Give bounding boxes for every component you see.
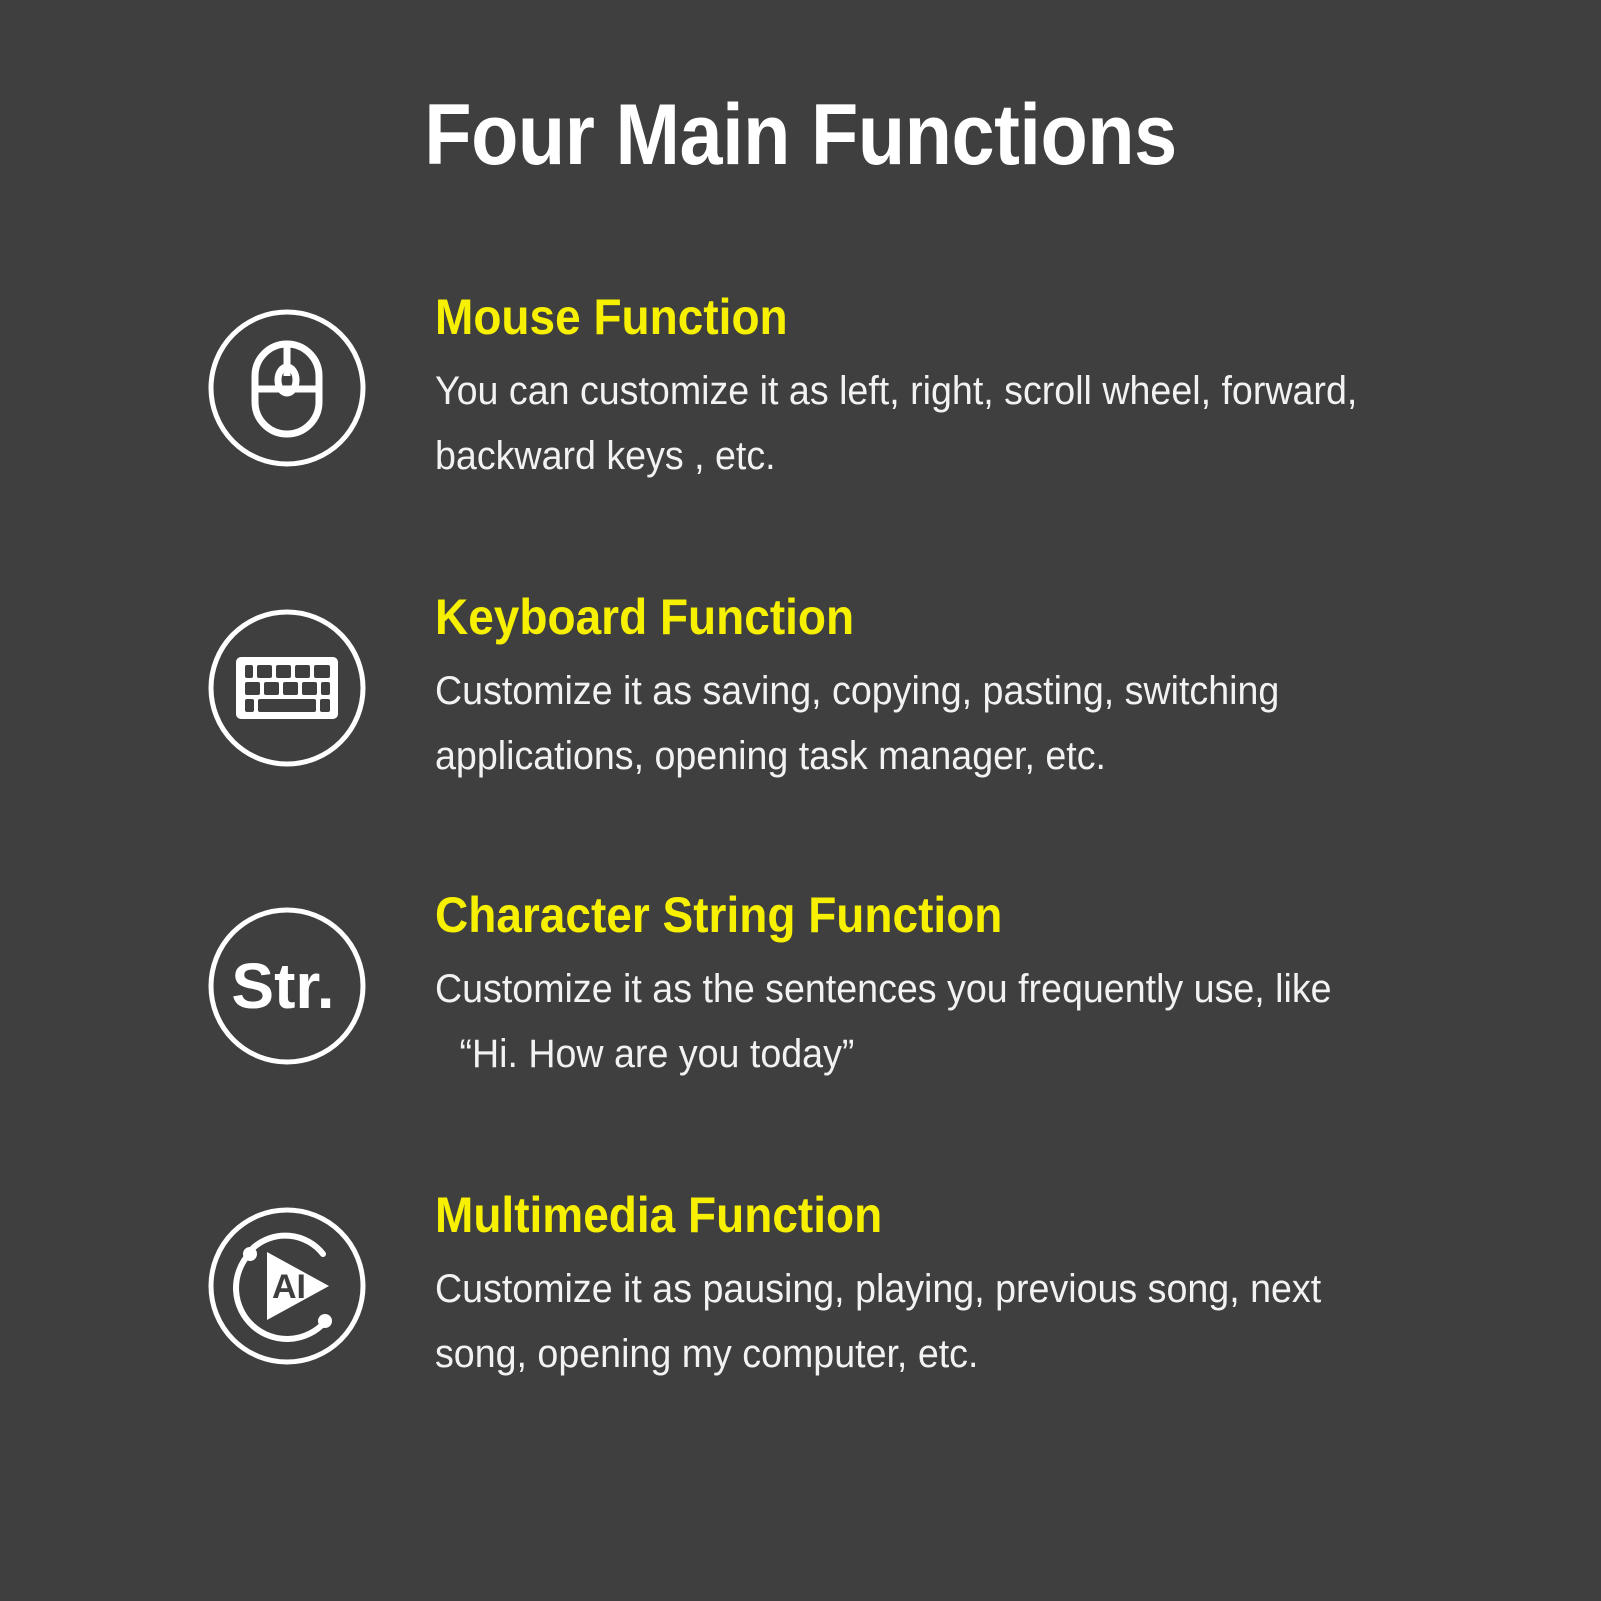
multimedia-ai-play-icon: AI <box>205 1204 369 1368</box>
feature-heading-keyboard: Keyboard Function <box>435 588 1508 647</box>
feature-list: Mouse Function You can customize it as l… <box>0 278 1601 1476</box>
string-str-icon: Str. <box>205 904 369 1068</box>
feature-body-multimedia: Customize it as pausing, playing, previo… <box>435 1257 1413 1387</box>
feature-item-character-string: Str. Character String Function Customize… <box>0 876 1601 1176</box>
feature-text-character-string: Character String Function Customize it a… <box>369 876 1601 1087</box>
feature-text-multimedia: Multimedia Function Customize it as paus… <box>369 1176 1601 1387</box>
feature-item-keyboard: Keyboard Function Customize it as saving… <box>0 578 1601 876</box>
page-title: Four Main Functions <box>80 88 1521 183</box>
feature-item-mouse: Mouse Function You can customize it as l… <box>0 278 1601 578</box>
feature-text-mouse: Mouse Function You can customize it as l… <box>369 278 1601 489</box>
poster-root: Four Main Functions Mouse Function You c… <box>0 0 1601 1601</box>
feature-heading-character-string: Character String Function <box>435 886 1508 945</box>
feature-body-keyboard: Customize it as saving, copying, pasting… <box>435 659 1413 789</box>
keyboard-icon <box>205 606 369 770</box>
feature-heading-mouse: Mouse Function <box>435 288 1508 347</box>
feature-item-multimedia: AI Multimedia Function Customize it as p… <box>0 1176 1601 1476</box>
string-icon-label: Str. <box>231 950 334 1022</box>
feature-body-mouse: You can customize it as left, right, scr… <box>435 359 1413 489</box>
feature-text-keyboard: Keyboard Function Customize it as saving… <box>369 578 1601 789</box>
feature-body-character-string: Customize it as the sentences you freque… <box>435 957 1488 1087</box>
mouse-icon <box>205 306 369 470</box>
multimedia-icon-label: AI <box>272 1268 306 1306</box>
feature-body-quote: “Hi. How are you today” <box>435 1022 1488 1087</box>
feature-heading-multimedia: Multimedia Function <box>435 1186 1508 1245</box>
feature-body-line-1: Customize it as the sentences you freque… <box>435 967 1332 1011</box>
